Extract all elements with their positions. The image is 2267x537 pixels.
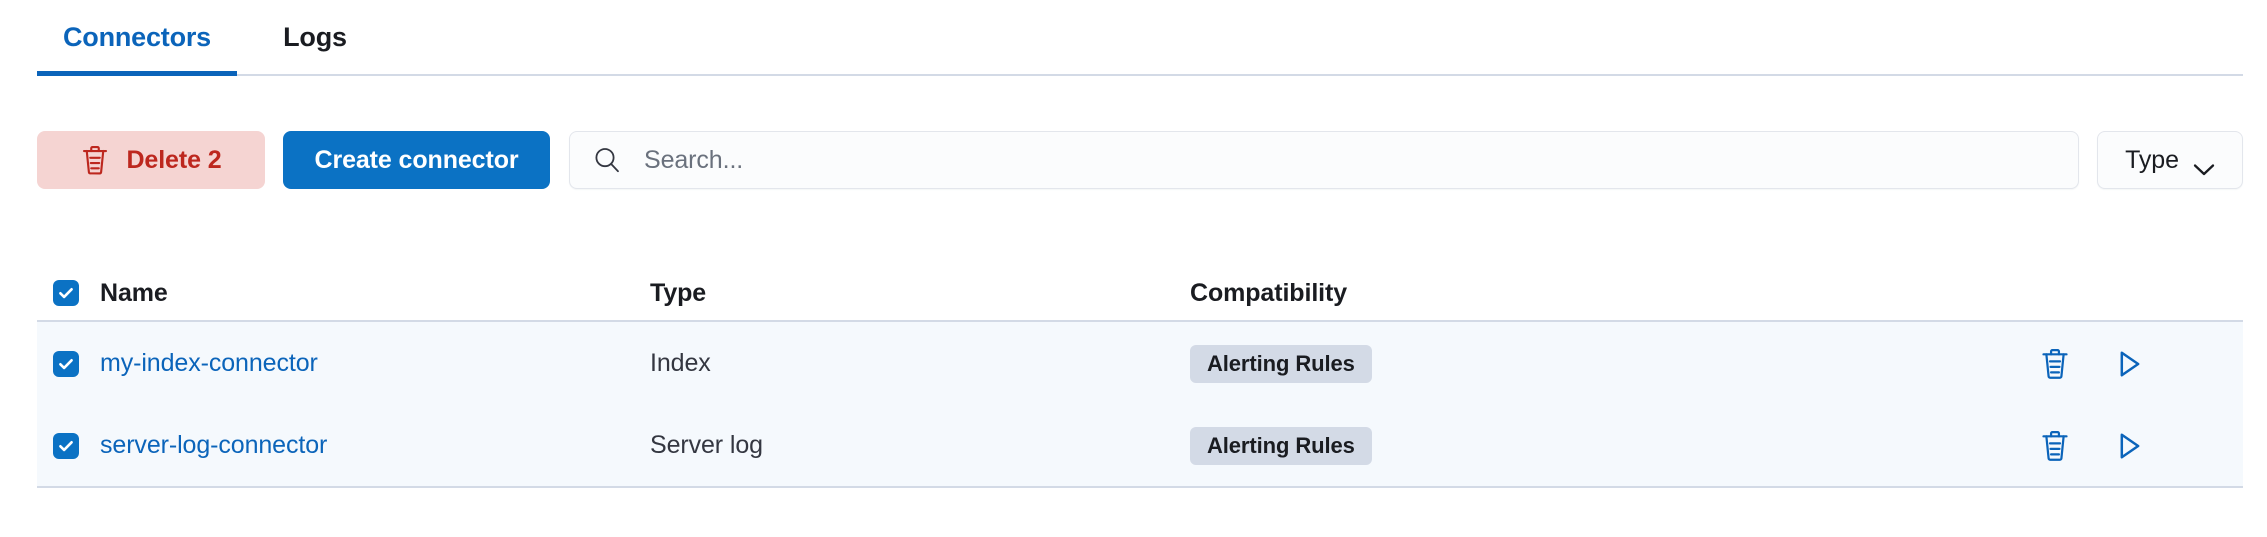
row-compatibility-cell: Alerting Rules: [1190, 345, 2013, 383]
type-filter-dropdown[interactable]: Type: [2097, 131, 2243, 189]
table-header-row: Name Type Compatibility: [37, 266, 2243, 322]
select-all-cell: [37, 280, 100, 306]
row-select-cell: [37, 433, 100, 459]
row-checkbox[interactable]: [53, 351, 79, 377]
select-all-checkbox[interactable]: [53, 280, 79, 306]
tab-connectors[interactable]: Connectors: [37, 0, 237, 74]
connector-name-link[interactable]: my-index-connector: [100, 349, 318, 377]
row-name-cell: my-index-connector: [100, 349, 650, 378]
status-badge: Alerting Rules: [1190, 427, 1372, 465]
row-name-cell: server-log-connector: [100, 431, 650, 460]
connector-name-link[interactable]: server-log-connector: [100, 431, 327, 459]
column-header-type: Type: [650, 279, 1190, 308]
row-actions-cell: [2013, 347, 2243, 381]
tab-connectors-label: Connectors: [63, 22, 211, 53]
status-badge: Alerting Rules: [1190, 345, 1372, 383]
create-connector-label: Create connector: [314, 146, 518, 175]
tab-bar: Connectors Logs: [37, 0, 2243, 76]
trash-icon: [80, 144, 110, 176]
delete-button[interactable]: Delete 2: [37, 131, 265, 189]
search-input[interactable]: [644, 146, 2078, 175]
chevron-down-icon: [2193, 154, 2215, 167]
row-type-cell: Server log: [650, 431, 1190, 460]
row-select-cell: [37, 351, 100, 377]
row-delete-icon[interactable]: [2038, 429, 2072, 463]
tab-logs-label: Logs: [283, 22, 347, 53]
row-run-icon[interactable]: [2112, 347, 2146, 381]
delete-button-label: Delete 2: [126, 146, 221, 175]
row-checkbox[interactable]: [53, 433, 79, 459]
tab-logs[interactable]: Logs: [245, 0, 385, 74]
connectors-page: Connectors Logs Delete 2 Create connecto…: [0, 0, 2267, 537]
toolbar: Delete 2 Create connector Type: [37, 131, 2243, 189]
row-compatibility-cell: Alerting Rules: [1190, 427, 2013, 465]
connectors-table: Name Type Compatibility my-index-connect…: [37, 266, 2243, 488]
table-row[interactable]: my-index-connector Index Alerting Rules: [37, 322, 2243, 405]
table-row[interactable]: server-log-connector Server log Alerting…: [37, 405, 2243, 488]
row-delete-icon[interactable]: [2038, 347, 2072, 381]
search-icon: [592, 145, 622, 175]
row-type-cell: Index: [650, 349, 1190, 378]
row-actions-cell: [2013, 429, 2243, 463]
create-connector-button[interactable]: Create connector: [283, 131, 550, 189]
column-header-compatibility: Compatibility: [1190, 279, 2013, 308]
column-header-name: Name: [100, 279, 650, 308]
search-box[interactable]: [569, 131, 2079, 189]
row-run-icon[interactable]: [2112, 429, 2146, 463]
type-filter-label: Type: [2125, 146, 2179, 175]
